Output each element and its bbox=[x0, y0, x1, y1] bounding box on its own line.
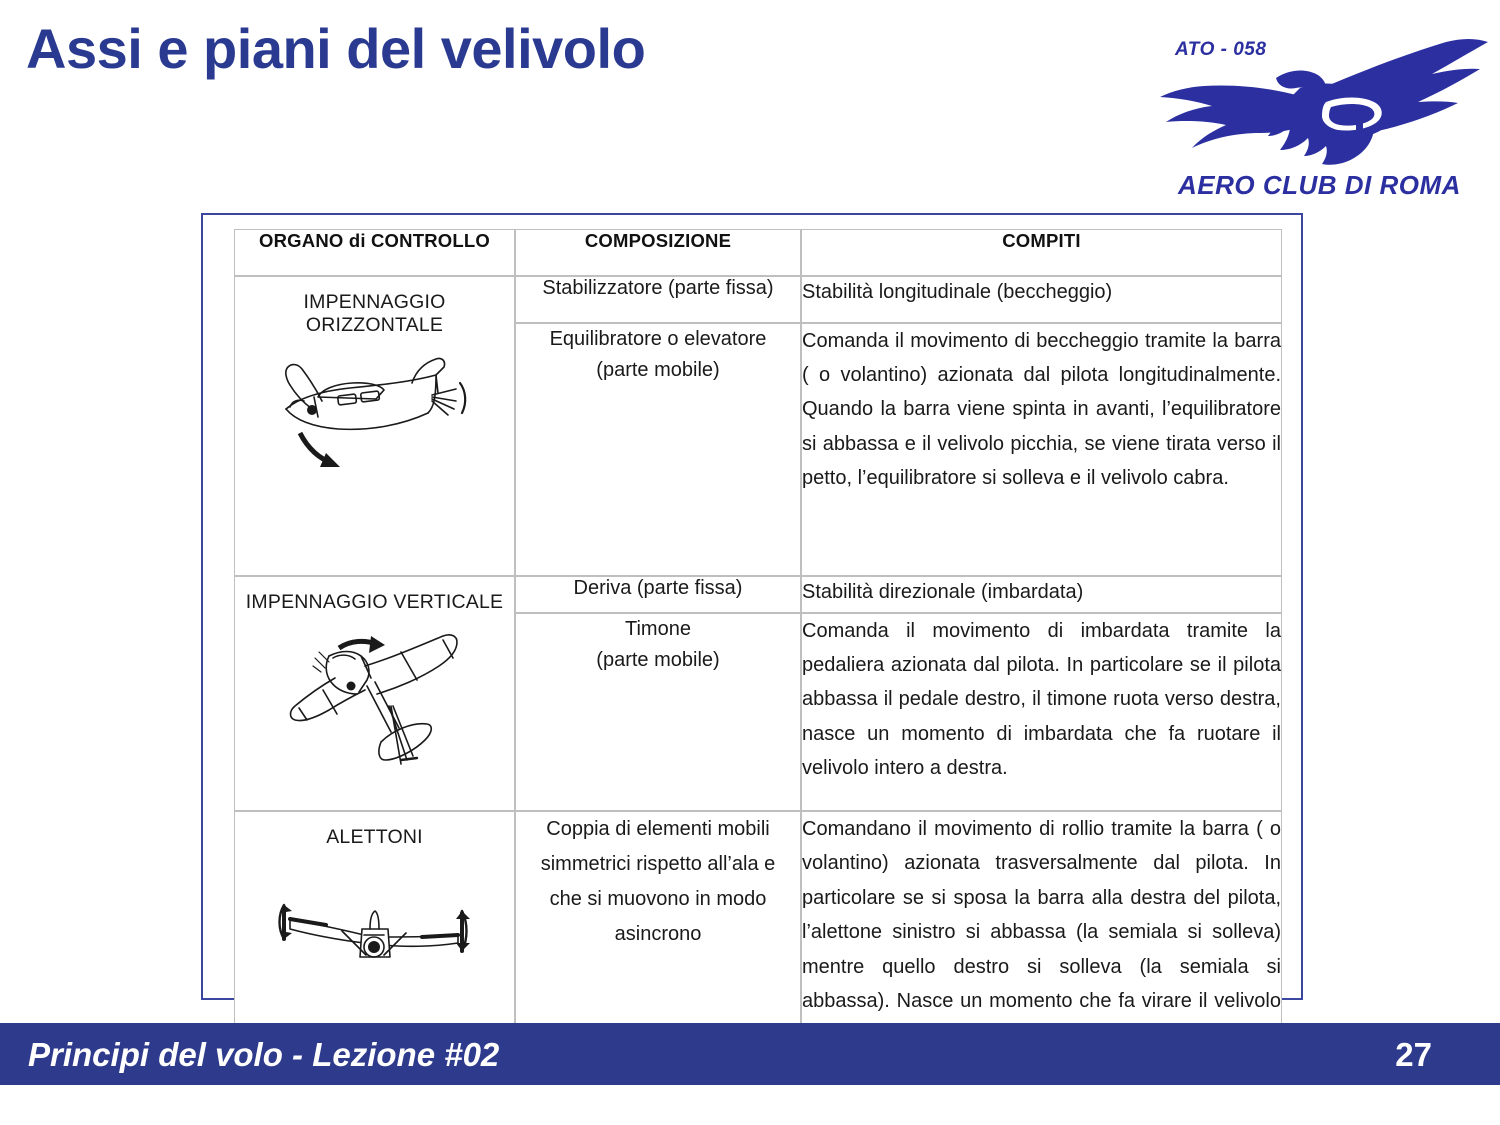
slide-header: Assi e piani del velivolo ATO - 058 bbox=[0, 0, 1500, 210]
compiti-cell: Comandano il movimento di rollio tramite… bbox=[801, 811, 1282, 1054]
aero-club-logo: ATO - 058 AERO CLUB DI ROMA bbox=[1150, 18, 1490, 210]
composizione-cell: Timone (parte mobile) bbox=[515, 613, 801, 812]
composizione-cell: Deriva (parte fissa) bbox=[515, 576, 801, 613]
composizione-line-1: Equilibratore o elevatore bbox=[550, 328, 767, 350]
column-header-compiti: COMPITI bbox=[801, 229, 1282, 276]
logo-caption: AERO CLUB DI ROMA bbox=[1178, 170, 1461, 201]
column-header-organo: ORGANO di CONTROLLO bbox=[234, 229, 515, 276]
composizione-cell: Coppia di elementi mobili simmetrici ris… bbox=[515, 811, 801, 1054]
compiti-cell: Comanda il movimento di imbardata tramit… bbox=[801, 613, 1282, 812]
column-header-composizione: COMPOSIZIONE bbox=[515, 229, 801, 276]
aircraft-roll-aileron-diagram bbox=[262, 867, 487, 1007]
content-frame: ORGANO di CONTROLLO COMPOSIZIONE COMPITI… bbox=[201, 213, 1303, 1000]
organo-label: IMPENNAGGIO VERTICALE bbox=[235, 577, 514, 614]
organo-cell-horizontal-tail: IMPENNAGGIO ORIZZONTALE bbox=[234, 276, 515, 576]
page-number: 27 bbox=[1395, 1036, 1432, 1074]
compiti-cell: Comanda il movimento di beccheggio trami… bbox=[801, 323, 1282, 576]
composizione-line-1: Timone bbox=[625, 618, 691, 640]
footer-bar: Principi del volo - Lezione #02 27 bbox=[0, 1023, 1500, 1085]
table-row: IMPENNAGGIO VERTICALE bbox=[234, 576, 1282, 613]
compiti-cell: Stabilità direzionale (imbardata) bbox=[801, 576, 1282, 613]
composizione-cell: Equilibratore o elevatore (parte mobile) bbox=[515, 323, 801, 576]
page-title: Assi e piani del velivolo bbox=[26, 16, 645, 81]
organo-label: ALETTONI bbox=[235, 812, 514, 849]
control-surfaces-table: ORGANO di CONTROLLO COMPOSIZIONE COMPITI… bbox=[234, 229, 1282, 1054]
table-row: ALETTONI bbox=[234, 811, 1282, 1054]
composizione-line-2: (parte mobile) bbox=[596, 649, 719, 671]
aircraft-pitch-elevator-diagram bbox=[260, 337, 490, 512]
compiti-cell: Stabilità longitudinale (beccheggio) bbox=[801, 276, 1282, 323]
table-header-row: ORGANO di CONTROLLO COMPOSIZIONE COMPITI bbox=[234, 229, 1282, 276]
ep-monogram-icon bbox=[1312, 88, 1393, 138]
footer-title: Principi del volo - Lezione #02 bbox=[28, 1036, 499, 1074]
composizione-line-2: (parte mobile) bbox=[596, 359, 719, 381]
composizione-cell: Stabilizzatore (parte fissa) bbox=[515, 276, 801, 323]
organo-label: IMPENNAGGIO ORIZZONTALE bbox=[235, 277, 514, 337]
eagle-icon bbox=[1150, 38, 1490, 168]
organo-cell-vertical-tail: IMPENNAGGIO VERTICALE bbox=[234, 576, 515, 811]
organo-cell-ailerons: ALETTONI bbox=[234, 811, 515, 1054]
composizione-text: Coppia di elementi mobili simmetrici ris… bbox=[516, 812, 800, 952]
aircraft-yaw-rudder-diagram bbox=[267, 614, 482, 789]
table-row: IMPENNAGGIO ORIZZONTALE bbox=[234, 276, 1282, 323]
